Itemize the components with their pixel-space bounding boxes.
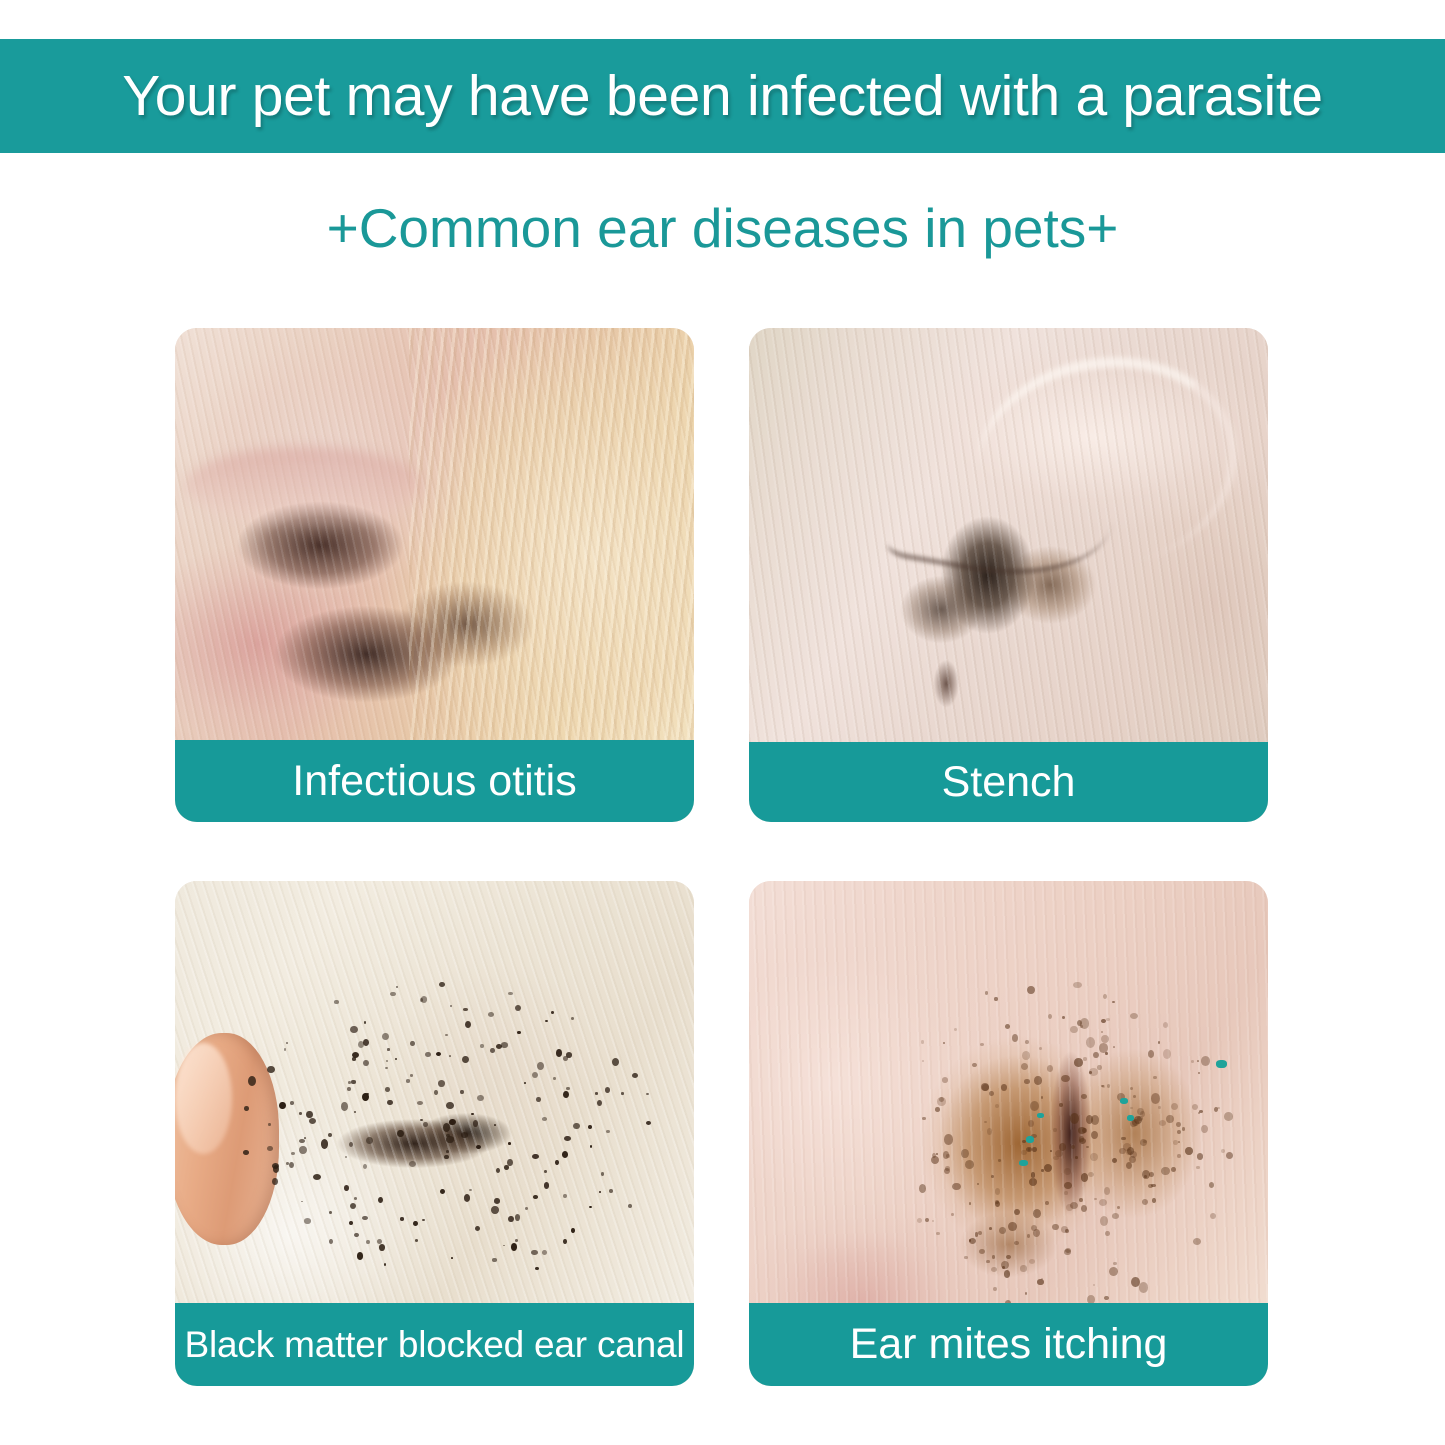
card-caption-bar: Stench xyxy=(749,742,1268,822)
card-caption-bar: Ear mites itching xyxy=(749,1303,1268,1386)
card-caption-label: Black matter blocked ear canal xyxy=(185,1324,685,1366)
page-title: Your pet may have been infected with a p… xyxy=(122,63,1323,129)
disease-card-ear-mites[interactable]: Ear mites itching xyxy=(749,881,1268,1386)
card-caption-label: Stench xyxy=(942,758,1076,807)
card-caption-bar: Infectious otitis xyxy=(175,740,694,822)
card-caption-label: Ear mites itching xyxy=(850,1320,1168,1369)
card-caption-bar: Black matter blocked ear canal xyxy=(175,1303,694,1386)
disease-card-black-matter[interactable]: Black matter blocked ear canal xyxy=(175,881,694,1386)
card-caption-label: Infectious otitis xyxy=(292,757,576,806)
disease-card-stench[interactable]: Stench xyxy=(749,328,1268,822)
ear-fold xyxy=(185,447,424,526)
infographic-page: Your pet may have been infected with a p… xyxy=(0,0,1445,1445)
disease-card-grid: Infectious otitis Stench Black ma xyxy=(175,328,1268,1386)
header-banner: Your pet may have been infected with a p… xyxy=(0,39,1445,153)
disease-card-infectious-otitis[interactable]: Infectious otitis xyxy=(175,328,694,822)
subtitle-row: +Common ear diseases in pets+ xyxy=(0,183,1445,273)
subtitle-text: +Common ear diseases in pets+ xyxy=(327,196,1119,260)
